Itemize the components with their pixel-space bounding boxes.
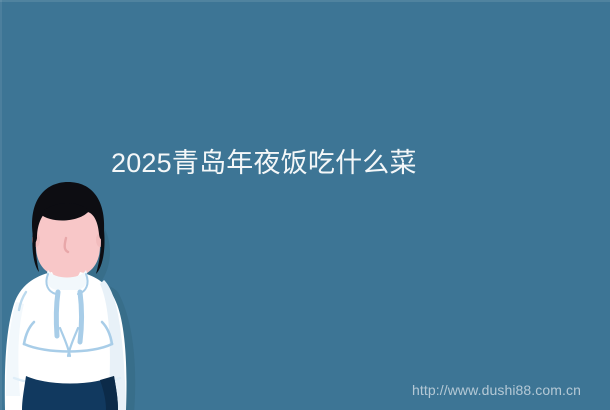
watermark-url: http://www.dushi88.com.cn (412, 381, 581, 399)
image-canvas: 2025青岛年夜饭吃什么菜 http://www.dushi88.com.cn (0, 0, 610, 410)
top-edge-highlight (0, 0, 610, 2)
page-title: 2025青岛年夜饭吃什么菜 (111, 147, 417, 179)
person-illustration (0, 180, 140, 410)
